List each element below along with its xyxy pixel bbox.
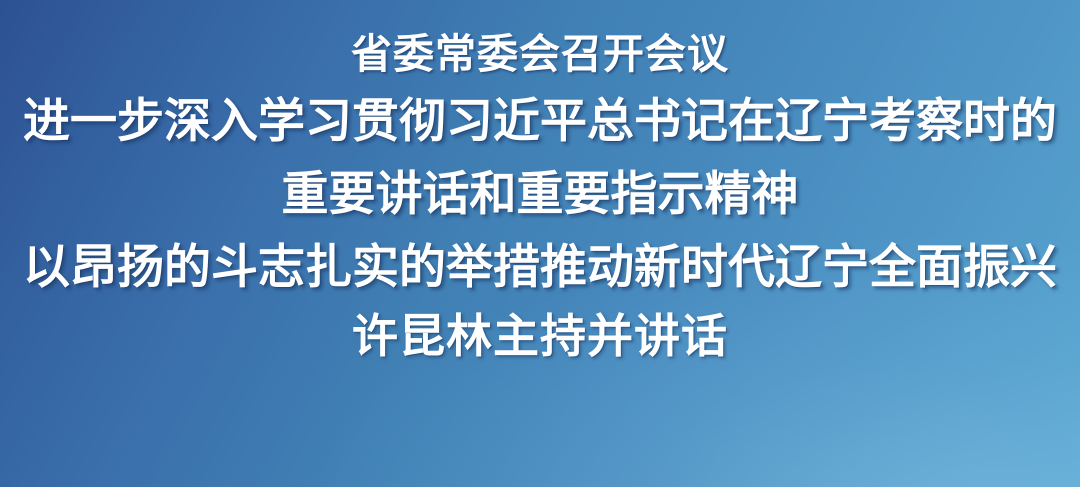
news-banner-card: 省委常委会召开会议 进一步深入学习贯彻习近平总书记在辽宁考察时的 重要讲话和重要… [0,0,1080,487]
banner-headline-line-2: 重要讲话和重要指示精神 [282,170,799,217]
banner-headline-line-1: 进一步深入学习贯彻习近平总书记在辽宁考察时的 [23,97,1057,144]
banner-byline: 许昆林主持并讲话 [352,314,728,360]
banner-kicker: 省委常委会召开会议 [351,34,729,75]
banner-headline-line-3: 以昂扬的斗志扎实的举措推动新时代辽宁全面振兴 [23,243,1057,290]
banner-text-stack: 省委常委会召开会议 进一步深入学习贯彻习近平总书记在辽宁考察时的 重要讲话和重要… [0,0,1080,487]
